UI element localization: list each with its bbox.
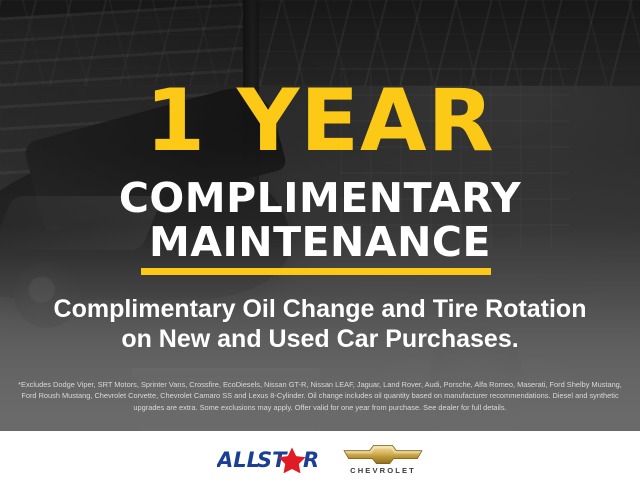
offer-text-line-1: Complimentary Oil Change and Tire Rotati…: [0, 295, 640, 324]
chevrolet-wordmark: CHEVROLET: [350, 466, 416, 475]
chevrolet-logo[interactable]: CHEVROLET: [343, 444, 423, 475]
all-star-text-all: ALL: [217, 448, 260, 472]
chevrolet-bowtie-icon: [343, 444, 423, 465]
all-star-text-r: R: [303, 448, 319, 472]
banner-content: 1 YEAR COMPLIMENTARY MAINTENANCE Complim…: [0, 0, 640, 488]
all-star-logo[interactable]: ALL ST R: [217, 447, 321, 473]
offer-text-line-2: on New and Used Car Purchases.: [0, 325, 640, 354]
yellow-divider-rule: [141, 268, 491, 275]
headline-maintenance: MAINTENANCE: [0, 222, 640, 263]
headline-complimentary: COMPLIMENTARY: [0, 178, 640, 219]
promo-banner: 1 YEAR COMPLIMENTARY MAINTENANCE Complim…: [0, 0, 640, 488]
headline-year: 1 YEAR: [0, 78, 640, 164]
disclaimer-fine-print: *Excludes Dodge Viper, SRT Motors, Sprin…: [14, 379, 626, 413]
logo-footer: ALL ST R: [0, 431, 640, 488]
